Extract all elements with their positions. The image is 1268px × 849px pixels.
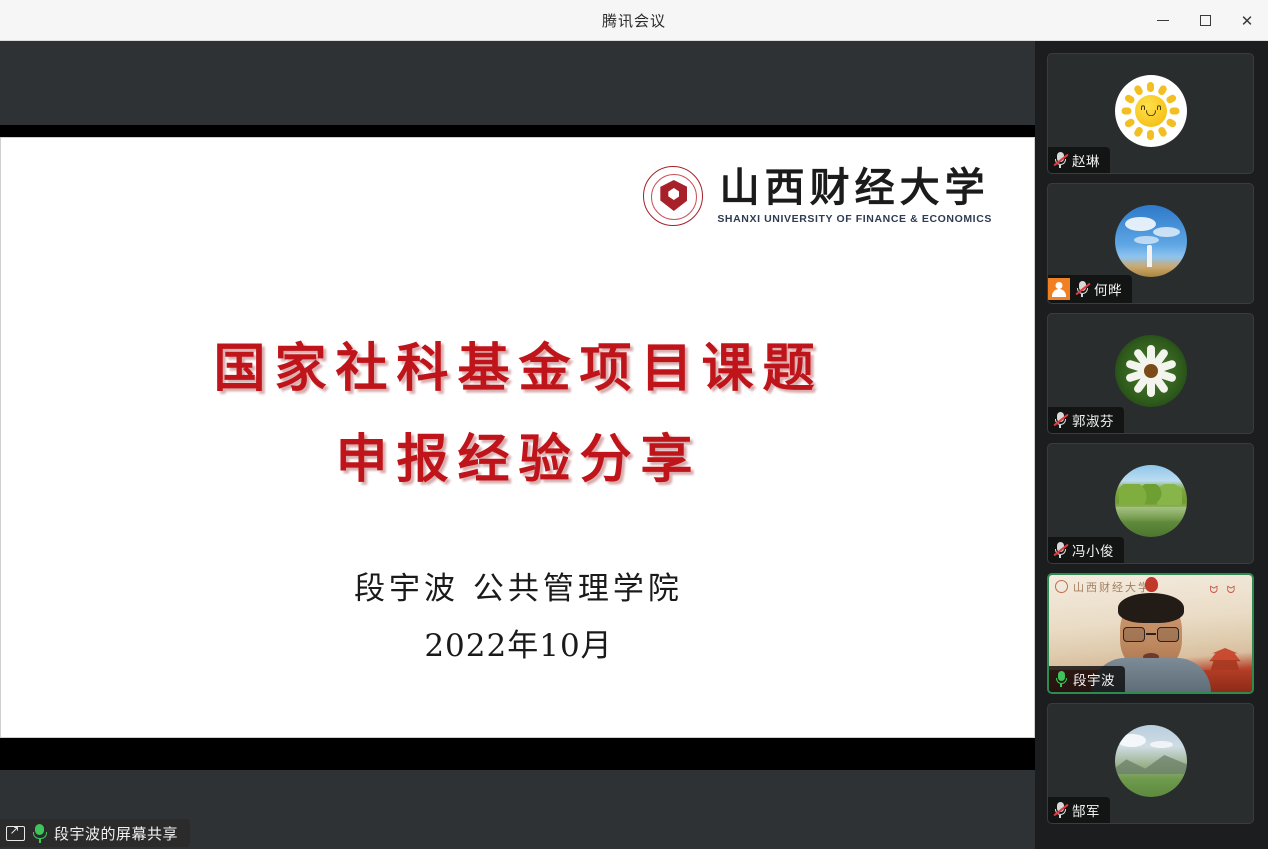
rocket-launch-avatar-icon xyxy=(1115,205,1187,277)
close-button[interactable]: ✕ xyxy=(1226,0,1268,41)
mountain-avatar-icon xyxy=(1115,725,1187,797)
minimize-button[interactable] xyxy=(1142,0,1184,41)
lantern-icon xyxy=(1145,577,1158,592)
participant-name: 赵琳 xyxy=(1072,150,1100,170)
letterbox-bottom xyxy=(0,737,1035,770)
university-name-en: SHANXI UNIVERSITY OF FINANCE & ECONOMICS xyxy=(717,213,992,225)
microphone-muted-icon xyxy=(1054,542,1066,558)
participant-nameplate: 郭淑芬 xyxy=(1048,407,1124,433)
screen-share-badge: 段宇波的屏幕共享 xyxy=(0,819,190,847)
participant-rail[interactable]: 赵琳 何晔 xyxy=(1035,41,1268,849)
window-controls: ✕ xyxy=(1142,0,1268,41)
virtual-bg-banner-text: 山西财经大学 xyxy=(1073,579,1151,595)
participant-tile[interactable]: 冯小俊 xyxy=(1047,443,1254,564)
participant-tile[interactable]: 赵琳 xyxy=(1047,53,1254,174)
participant-name: 何晔 xyxy=(1094,279,1122,299)
participant-tile[interactable]: 郜军 xyxy=(1047,703,1254,824)
participant-nameplate: 何晔 xyxy=(1048,275,1132,303)
slide-date: 2022年10月 xyxy=(1,620,1035,665)
slide-author: 段宇波 公共管理学院 xyxy=(1,563,1035,608)
university-logo-text: 山西财经大学 SHANXI UNIVERSITY OF FINANCE & EC… xyxy=(717,167,992,225)
slide-title-line-2: 申报经验分享 xyxy=(1,414,1035,505)
person-hair xyxy=(1118,593,1184,623)
participant-tile[interactable]: 郭淑芬 xyxy=(1047,313,1254,434)
microphone-muted-icon xyxy=(1076,281,1088,297)
microphone-muted-icon xyxy=(1054,152,1066,168)
close-icon: ✕ xyxy=(1241,12,1254,30)
presentation-slide: 山西财经大学 SHANXI UNIVERSITY OF FINANCE & EC… xyxy=(0,137,1035,738)
participant-tile[interactable]: 何晔 xyxy=(1047,183,1254,304)
app-title: 腾讯会议 xyxy=(602,10,666,31)
microphone-muted-icon xyxy=(1054,412,1066,428)
microphone-on-icon xyxy=(32,824,47,843)
sun-avatar-icon xyxy=(1115,75,1187,147)
participant-nameplate: 段宇波 xyxy=(1049,666,1125,692)
window-title-bar[interactable]: 腾讯会议 ✕ xyxy=(0,0,1268,41)
screen-share-icon xyxy=(6,826,25,841)
birds-icon: ᗢ ᗢ xyxy=(1210,585,1238,596)
shared-screen-stage[interactable]: 山西财经大学 SHANXI UNIVERSITY OF FINANCE & EC… xyxy=(0,41,1035,849)
participant-tile-active-speaker[interactable]: 山西财经大学 ᗢ ᗢ 段宇波 xyxy=(1047,573,1254,694)
maximize-icon xyxy=(1200,15,1211,26)
microphone-muted-icon xyxy=(1054,802,1066,818)
participant-name: 冯小俊 xyxy=(1072,540,1114,560)
host-badge-icon xyxy=(1048,278,1070,300)
virtual-bg-logo-icon xyxy=(1055,580,1068,593)
slide-title: 国家社科基金项目课题 申报经验分享 xyxy=(1,323,1035,505)
slide-subtitle-block: 段宇波 公共管理学院 2022年10月 xyxy=(1,563,1035,665)
participant-nameplate: 冯小俊 xyxy=(1048,537,1124,563)
emblem-inner-shape xyxy=(668,188,679,200)
slide-title-line-1: 国家社科基金项目课题 xyxy=(1,323,1035,414)
glasses-icon xyxy=(1123,627,1179,642)
university-logo: 山西财经大学 SHANXI UNIVERSITY OF FINANCE & EC… xyxy=(643,166,992,226)
microphone-on-icon xyxy=(1055,671,1067,687)
university-name-cn: 山西财经大学 xyxy=(720,167,990,209)
flower-avatar-icon xyxy=(1115,335,1187,407)
screen-share-label: 段宇波的屏幕共享 xyxy=(54,823,178,844)
participant-nameplate: 赵琳 xyxy=(1048,147,1110,173)
participant-name: 郜军 xyxy=(1072,800,1100,820)
minimize-icon xyxy=(1157,20,1169,21)
university-emblem-icon xyxy=(643,166,703,226)
participant-name: 段宇波 xyxy=(1073,669,1115,689)
trees-lake-avatar-icon xyxy=(1115,465,1187,537)
participant-name: 郭淑芬 xyxy=(1072,410,1114,430)
maximize-button[interactable] xyxy=(1184,0,1226,41)
participant-nameplate: 郜军 xyxy=(1048,797,1110,823)
